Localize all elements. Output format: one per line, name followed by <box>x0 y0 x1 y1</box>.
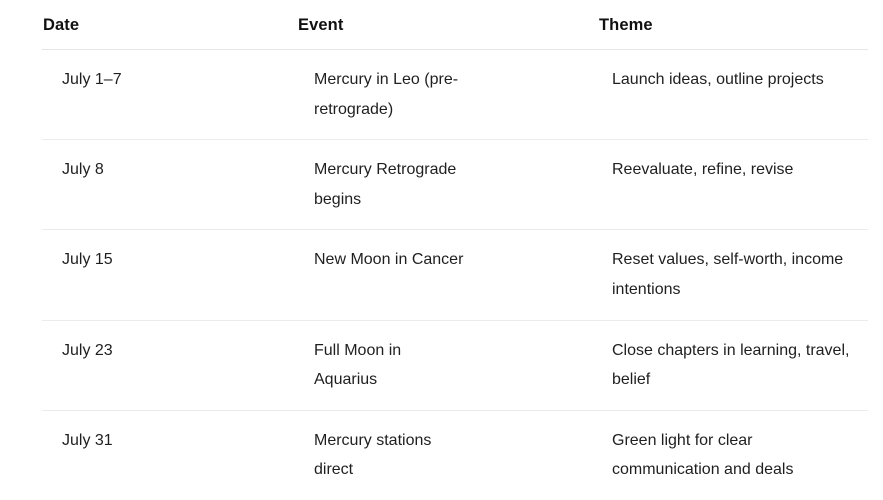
column-header-date: Date <box>42 16 178 50</box>
cell-date: July 31 <box>42 410 178 500</box>
table-body: July 1–7 Mercury in Leo (pre-retrograde)… <box>42 50 868 500</box>
top-spacer <box>0 0 883 16</box>
column-header-event: Event <box>178 16 487 50</box>
cell-date: July 8 <box>42 140 178 230</box>
cell-date: July 1–7 <box>42 50 178 140</box>
cell-event: Mercury in Leo (pre-retrograde) <box>178 50 487 140</box>
table-row: July 31 Mercury stations direct Green li… <box>42 410 868 500</box>
cell-event: Full Moon in Aquarius <box>178 320 487 410</box>
astrology-schedule-table: Date Event Theme July 1–7 Mercury in Leo… <box>42 16 868 500</box>
table-row: July 15 New Moon in Cancer Reset values,… <box>42 230 868 320</box>
cell-event: Mercury Retrograde begins <box>178 140 487 230</box>
table-row: July 1–7 Mercury in Leo (pre-retrograde)… <box>42 50 868 140</box>
cell-theme: Reevaluate, refine, revise <box>487 140 868 230</box>
cell-theme: Green light for clear communication and … <box>487 410 868 500</box>
table-row: July 23 Full Moon in Aquarius Close chap… <box>42 320 868 410</box>
schedule-table-container: Date Event Theme July 1–7 Mercury in Leo… <box>0 0 883 500</box>
cell-theme: Launch ideas, outline projects <box>487 50 868 140</box>
table-header: Date Event Theme <box>42 16 868 50</box>
cell-theme: Reset values, self-worth, income intenti… <box>487 230 868 320</box>
cell-date: July 23 <box>42 320 178 410</box>
cell-event: New Moon in Cancer <box>178 230 487 320</box>
column-header-theme: Theme <box>487 16 868 50</box>
cell-date: July 15 <box>42 230 178 320</box>
cell-theme: Close chapters in learning, travel, beli… <box>487 320 868 410</box>
table-row: July 8 Mercury Retrograde begins Reevalu… <box>42 140 868 230</box>
cell-event: Mercury stations direct <box>178 410 487 500</box>
table-header-row: Date Event Theme <box>42 16 868 50</box>
